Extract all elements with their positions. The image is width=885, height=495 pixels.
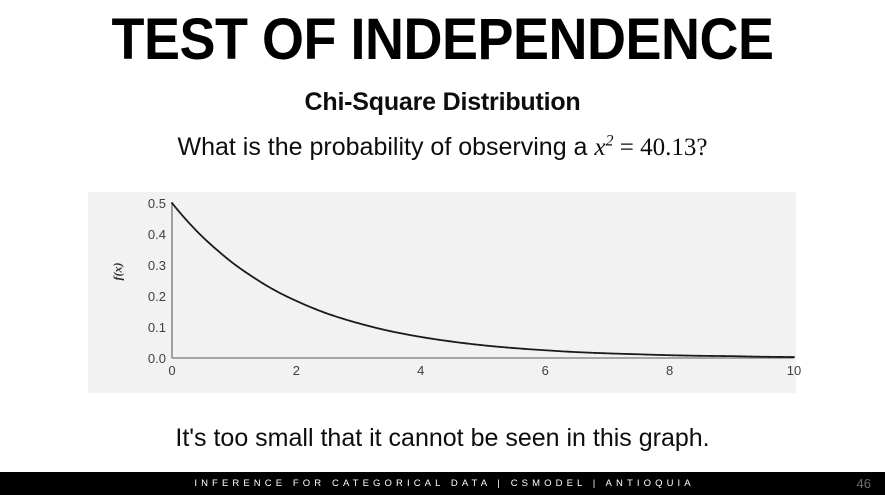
chart-curve-svg xyxy=(88,192,796,393)
caption-text: It's too small that it cannot be seen in… xyxy=(0,421,885,455)
question-prefix: What is the probability of observing a xyxy=(178,133,595,161)
slide-subtitle: Chi-Square Distribution xyxy=(0,87,885,117)
x-axis-tick: 2 xyxy=(276,364,316,377)
x-axis-tick: 10 xyxy=(774,364,814,377)
chi-square-variable: x xyxy=(594,134,605,161)
footer-bar: INFERENCE FOR CATEGORICAL DATA | CSMODEL… xyxy=(0,472,885,495)
question-text: What is the probability of observing a x… xyxy=(0,130,885,165)
page-number: 46 xyxy=(857,477,871,491)
x-axis-tick: 0 xyxy=(152,364,192,377)
x-axis-tick-labels: 0246810 xyxy=(88,364,796,380)
chart-plot-area: f(x) 0.00.10.20.30.40.5 0246810 xyxy=(88,192,796,393)
x-axis-tick: 8 xyxy=(650,364,690,377)
slide-canvas: TEST OF INDEPENDENCE Chi-Square Distribu… xyxy=(0,0,885,495)
chi-square-exponent: 2 xyxy=(606,133,614,150)
footer-label: INFERENCE FOR CATEGORICAL DATA | CSMODEL… xyxy=(0,478,885,489)
x-axis-tick: 6 xyxy=(525,364,565,377)
page-title: TEST OF INDEPENDENCE xyxy=(31,8,854,72)
x-axis-tick: 4 xyxy=(401,364,441,377)
chi-square-chart: f(x) 0.00.10.20.30.40.5 0246810 xyxy=(88,192,796,393)
density-curve xyxy=(172,203,794,357)
question-value: = 40.13? xyxy=(614,134,708,161)
